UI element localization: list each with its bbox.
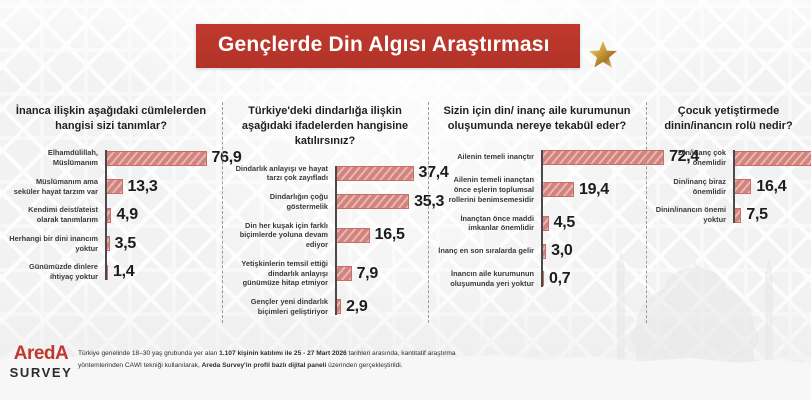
bar bbox=[733, 179, 751, 194]
bar-value-label: 19,4 bbox=[579, 181, 609, 199]
chart-row: Ailenin temeli inançtan önce eşlerin top… bbox=[437, 175, 637, 204]
chart-row: İnançtan önce maddi imkanlar önemlidir4,… bbox=[437, 214, 637, 234]
note-bold-1: 1.107 kişinin katılımı ile 25 - 27 Mart … bbox=[219, 350, 347, 357]
note-part-3: üzerinden gerçekleştirildi. bbox=[326, 362, 402, 369]
bar-zone: 3,0 bbox=[541, 242, 637, 260]
bar-category-label: Herhangi bir dini inancım yoktur bbox=[9, 234, 105, 254]
bar-category-label: Ailenin temeli inançtır bbox=[437, 152, 541, 162]
bar bbox=[541, 216, 549, 231]
bar bbox=[541, 182, 574, 197]
bar-value-label: 4,9 bbox=[116, 206, 137, 224]
bar-category-label: Din/inanç çok önemlidir bbox=[655, 148, 733, 168]
bar-zone: 76,9 bbox=[105, 149, 213, 167]
chart-row: Din/inanç biraz önemlidir16,4 bbox=[655, 177, 802, 197]
bar-zone: 16,4 bbox=[733, 178, 802, 196]
chart-title-1: İnanca ilişkin aşağıdaki cümlelerden han… bbox=[9, 104, 213, 134]
bar bbox=[105, 208, 111, 223]
chart-row: İnanç en son sıralarda gelir3,0 bbox=[437, 242, 637, 260]
charts-row: İnanca ilişkin aşağıdaki cümlelerden han… bbox=[0, 104, 811, 309]
bar-value-label: 16,4 bbox=[756, 178, 786, 196]
chart-row: Gençler yeni dindarlık biçimleri gelişti… bbox=[231, 297, 419, 317]
infographic-root: Gençlerde Din Algısı Araştırması İnanca … bbox=[0, 0, 811, 400]
chart-row: Din her kuşak için farklı biçimlerde yol… bbox=[231, 221, 419, 250]
bar-value-label: 3,5 bbox=[115, 235, 136, 253]
chart-title-3: Sizin için din/ inanç aile kurumunun olu… bbox=[437, 104, 637, 134]
bar bbox=[335, 194, 409, 209]
bar-value-label: 7,5 bbox=[746, 206, 767, 224]
bar bbox=[105, 236, 110, 251]
chart-bars-2: Dindarlık anlayışı ve hayat tarzı çok za… bbox=[231, 164, 419, 317]
bar-value-label: 7,9 bbox=[357, 265, 378, 283]
chart-row: Yetişkinlerin temsil ettiği dindarlık an… bbox=[231, 259, 419, 288]
bar-category-label: Yetişkinlerin temsil ettiği dindarlık an… bbox=[231, 259, 335, 288]
bar-category-label: Ailenin temeli inançtan önce eşlerin top… bbox=[437, 175, 541, 204]
bar-category-label: Kendimi deist/ateist olarak tanımlarım bbox=[9, 205, 105, 225]
bar-zone: 76,1 bbox=[733, 149, 802, 167]
bar bbox=[105, 265, 108, 280]
chart-bars-1: Elhamdülillah, Müslümanım76,9Müslümanım … bbox=[9, 148, 213, 282]
bar-category-label: İnanç en son sıralarda gelir bbox=[437, 246, 541, 256]
bar-zone: 7,5 bbox=[733, 206, 802, 224]
bar bbox=[335, 228, 370, 243]
chart-row: İnancın aile kurumunun oluşumunda yeri y… bbox=[437, 269, 637, 289]
bar bbox=[105, 179, 123, 194]
bar-zone: 16,5 bbox=[335, 226, 419, 244]
bar-zone: 0,7 bbox=[541, 270, 637, 288]
bar bbox=[335, 299, 341, 314]
bar-value-label: 16,5 bbox=[375, 226, 405, 244]
chart-panel-dindarlik: Türkiye'deki dindarlığa ilişkin aşağıdak… bbox=[222, 104, 428, 309]
bar-value-label: 2,9 bbox=[346, 298, 367, 316]
bar bbox=[335, 166, 414, 181]
bar bbox=[733, 208, 741, 223]
bar bbox=[733, 151, 811, 166]
chart-panel-aile: Sizin için din/ inanç aile kurumunun olu… bbox=[428, 104, 646, 309]
bar-category-label: İnançtan önce maddi imkanlar önemlidir bbox=[437, 214, 541, 234]
bar-category-label: Elhamdülillah, Müslümanım bbox=[9, 148, 105, 168]
methodology-note: Türkiye genelinde 18–30 yaş grubunda yer… bbox=[78, 348, 498, 371]
bar-category-label: Müslümanım ama seküler hayat tarzım var bbox=[9, 177, 105, 197]
logo-subtitle: SURVEY bbox=[8, 363, 74, 383]
bar-category-label: Dindarlığın çoğu göstermelik bbox=[231, 192, 335, 212]
bar-zone: 72,4 bbox=[541, 148, 637, 166]
chart-bars-4: Din/inanç çok önemlidir76,1Din/inanç bir… bbox=[655, 148, 802, 225]
bar-zone: 1,4 bbox=[105, 263, 213, 281]
bar-value-label: 4,5 bbox=[554, 214, 575, 232]
bar-category-label: Dindarlık anlayışı ve hayat tarzı çok za… bbox=[231, 164, 335, 184]
page-title: Gençlerde Din Algısı Araştırması bbox=[196, 24, 580, 68]
chart-row: Elhamdülillah, Müslümanım76,9 bbox=[9, 148, 213, 168]
bar-category-label: Din/inanç biraz önemlidir bbox=[655, 177, 733, 197]
bar-category-label: İnancın aile kurumunun oluşumunda yeri y… bbox=[437, 269, 541, 289]
chart-title-2: Türkiye'deki dindarlığa ilişkin aşağıdak… bbox=[231, 104, 419, 150]
bar bbox=[541, 244, 546, 259]
bar-category-label: Dinin/inancın önemi yoktur bbox=[655, 205, 733, 225]
bar-zone: 19,4 bbox=[541, 181, 637, 199]
bar-value-label: 13,3 bbox=[128, 178, 158, 196]
chart-row: Ailenin temeli inançtır72,4 bbox=[437, 148, 637, 166]
bar-category-label: Din her kuşak için farklı biçimlerde yol… bbox=[231, 221, 335, 250]
note-bold-2: Areda Survey'in profil bazlı dijital pan… bbox=[202, 362, 327, 369]
bar-zone: 7,9 bbox=[335, 265, 419, 283]
bar-value-label: 3,0 bbox=[551, 242, 572, 260]
bar-zone: 2,9 bbox=[335, 298, 419, 316]
logo-wordmark: AredA bbox=[8, 344, 74, 363]
bar-zone: 4,9 bbox=[105, 206, 213, 224]
bar-zone: 4,5 bbox=[541, 214, 637, 232]
chart-title-4: Çocuk yetiştirmede dinin/inancın rolü ne… bbox=[655, 104, 802, 134]
bar-value-label: 0,7 bbox=[549, 270, 570, 288]
chart-row: Günümüzde dinlere ihtiyaç yoktur1,4 bbox=[9, 262, 213, 282]
bar bbox=[335, 266, 352, 281]
chart-panel-cocuk: Çocuk yetiştirmede dinin/inancın rolü ne… bbox=[646, 104, 811, 309]
chart-row: Dindarlığın çoğu göstermelik35,3 bbox=[231, 192, 419, 212]
chart-row: Kendimi deist/ateist olarak tanımlarım4,… bbox=[9, 205, 213, 225]
crescent-star-icon bbox=[548, 17, 624, 93]
bar bbox=[541, 271, 544, 286]
chart-row: Dindarlık anlayışı ve hayat tarzı çok za… bbox=[231, 164, 419, 184]
chart-bars-3: Ailenin temeli inançtır72,4Ailenin temel… bbox=[437, 148, 637, 288]
chart-row: Herhangi bir dini inancım yoktur3,5 bbox=[9, 234, 213, 254]
chart-row: Din/inanç çok önemlidir76,1 bbox=[655, 148, 802, 168]
chart-panel-inanc: İnanca ilişkin aşağıdaki cümlelerden han… bbox=[0, 104, 222, 309]
bar-category-label: Günümüzde dinlere ihtiyaç yoktur bbox=[9, 262, 105, 282]
areda-survey-logo: AredA SURVEY bbox=[8, 344, 74, 383]
bar-zone: 3,5 bbox=[105, 235, 213, 253]
bar-zone: 37,4 bbox=[335, 164, 419, 182]
note-part-1: Türkiye genelinde 18–30 yaş grubunda yer… bbox=[78, 350, 219, 357]
chart-row: Müslümanım ama seküler hayat tarzım var1… bbox=[9, 177, 213, 197]
bar bbox=[105, 151, 207, 166]
chart-row: Dinin/inancın önemi yoktur7,5 bbox=[655, 205, 802, 225]
footer: AredA SURVEY Türkiye genelinde 18–30 yaş… bbox=[0, 338, 811, 400]
bar-category-label: Gençler yeni dindarlık biçimleri gelişti… bbox=[231, 297, 335, 317]
bar-zone: 13,3 bbox=[105, 178, 213, 196]
bar-value-label: 1,4 bbox=[113, 263, 134, 281]
title-banner: Gençlerde Din Algısı Araştırması bbox=[196, 24, 580, 68]
bar-zone: 35,3 bbox=[335, 193, 419, 211]
